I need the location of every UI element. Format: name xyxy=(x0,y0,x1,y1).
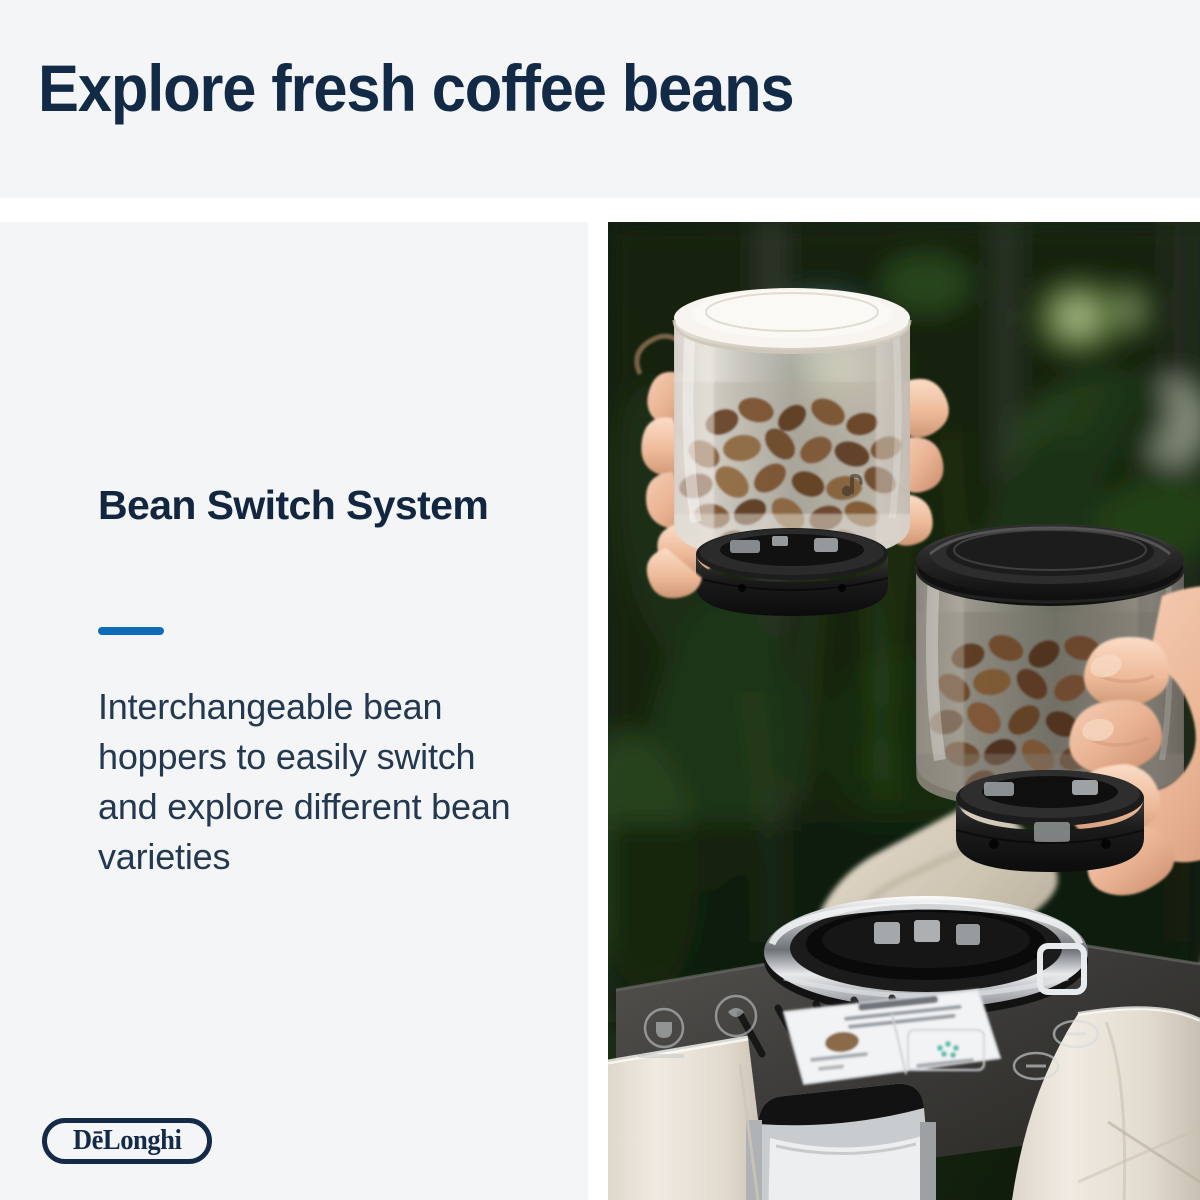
machine-drip-tray xyxy=(746,1084,936,1200)
content-area: Bean Switch System Interchangeable bean … xyxy=(0,222,1200,1200)
left-text-panel: Bean Switch System Interchangeable bean … xyxy=(0,222,588,1200)
product-photo-illustration xyxy=(608,222,1200,1200)
accent-divider xyxy=(98,627,164,635)
product-feature-card: Explore fresh coffee beans Bean Switch S… xyxy=(0,0,1200,1200)
hopper-collar-left xyxy=(696,528,888,616)
page-title: Explore fresh coffee beans xyxy=(38,50,794,126)
header-band: Explore fresh coffee beans xyxy=(0,0,1200,198)
feature-description: Interchangeable bean hoppers to easily s… xyxy=(98,682,528,882)
delonghi-logo-text: DēLonghi xyxy=(73,1127,182,1155)
product-photo xyxy=(608,222,1200,1200)
feature-heading: Bean Switch System xyxy=(98,480,498,531)
delonghi-logo: DēLonghi xyxy=(42,1118,212,1164)
